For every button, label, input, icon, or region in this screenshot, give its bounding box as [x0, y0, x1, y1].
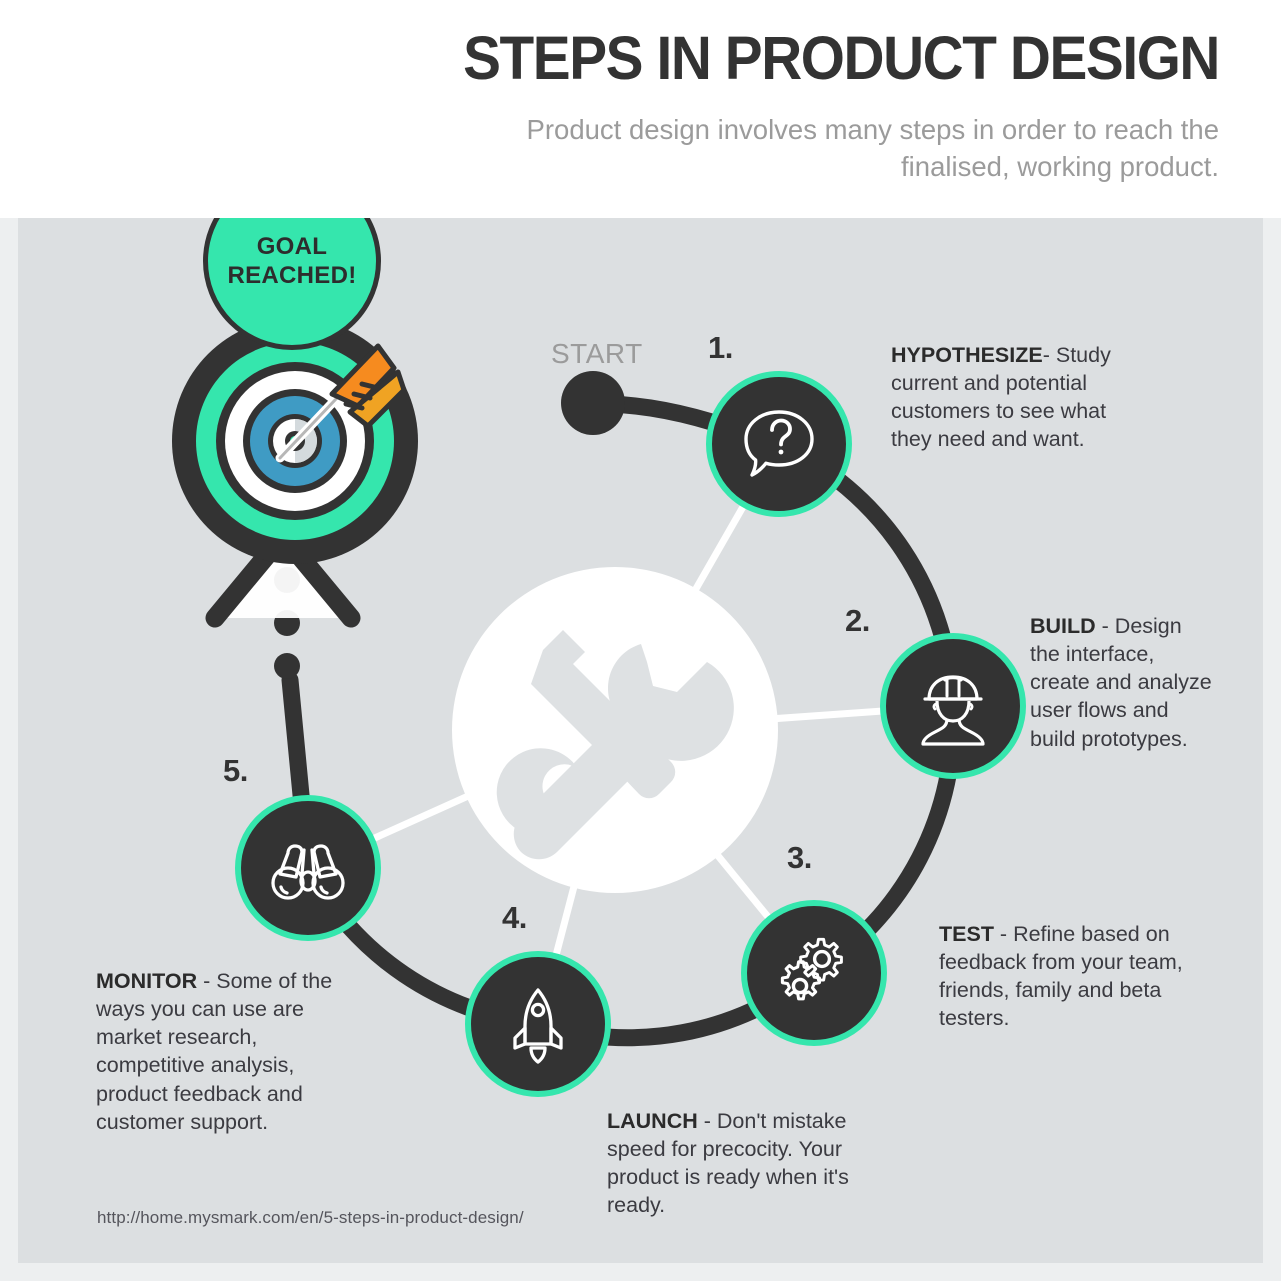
speech-bubble-question-icon — [737, 402, 821, 486]
start-label: START — [551, 338, 643, 370]
construction-worker-icon — [911, 664, 995, 748]
step-separator-2: - — [1096, 614, 1115, 638]
infographic-canvas: STEPS IN PRODUCT DESIGN Product design i… — [0, 0, 1281, 1281]
step-title-2: BUILD — [1030, 614, 1096, 638]
source-url[interactable]: http://home.mysmark.com/en/5-steps-in-pr… — [97, 1208, 524, 1228]
binoculars-icon — [264, 824, 352, 912]
step-number-4: 4. — [502, 900, 527, 936]
step-title-5: MONITOR — [96, 969, 197, 993]
rocket-icon — [496, 982, 580, 1066]
step-node-3-test[interactable] — [741, 900, 887, 1046]
step-node-4-launch[interactable] — [465, 951, 611, 1097]
step-title-4: LAUNCH — [607, 1109, 698, 1133]
goal-line-2: REACHED! — [227, 262, 356, 289]
step-separator-3: - — [994, 922, 1013, 946]
step-body-5: Some of the ways you can use are market … — [96, 969, 332, 1134]
step-node-5-monitor[interactable] — [235, 795, 381, 941]
step-title-1: HYPOTHESIZE — [891, 343, 1043, 367]
step-separator-4: - — [698, 1109, 717, 1133]
header-band: STEPS IN PRODUCT DESIGN Product design i… — [0, 0, 1281, 218]
step-number-2: 2. — [845, 603, 870, 639]
page-subtitle: Product design involves many steps in or… — [459, 112, 1219, 186]
step-description-3: TEST - Refine based on feedback from you… — [939, 920, 1204, 1033]
step-description-2: BUILD - Design the interface, create and… — [1030, 612, 1215, 753]
start-dot — [561, 371, 625, 435]
step-number-3: 3. — [787, 840, 812, 876]
step-description-5: MONITOR - Some of the ways you can use a… — [96, 967, 361, 1136]
goal-reached-label: GOAL REACHED! — [227, 232, 356, 291]
step-number-5: 5. — [223, 753, 248, 789]
step-title-3: TEST — [939, 922, 994, 946]
arrow-in-bullseye-icon — [258, 322, 408, 482]
page-title: STEPS IN PRODUCT DESIGN — [289, 26, 1219, 90]
step-description-1: HYPOTHESIZE- Study current and potential… — [891, 341, 1146, 454]
step-separator-5: - — [197, 969, 216, 993]
step-separator-1: - — [1043, 343, 1056, 367]
gears-icon — [772, 931, 856, 1015]
goal-line-1: GOAL — [257, 233, 328, 260]
step-number-1: 1. — [708, 330, 733, 366]
step-description-4: LAUNCH - Don't mistake speed for precoci… — [607, 1107, 897, 1220]
step-node-2-build[interactable] — [880, 633, 1026, 779]
step-node-1-hypothesize[interactable] — [706, 371, 852, 517]
